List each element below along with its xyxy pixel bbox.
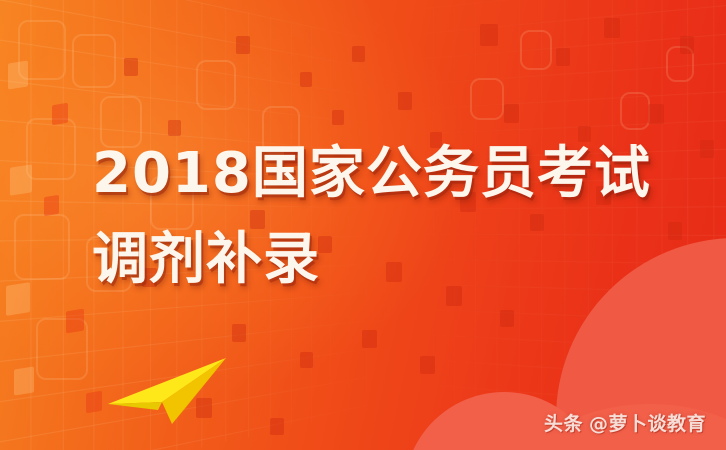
pattern-fleck [700, 140, 714, 158]
watermark-handle: @萝卜谈教育 [589, 409, 706, 436]
ghost-card [26, 118, 76, 180]
pattern-fleck [124, 58, 138, 76]
headline-line-2: 调剂补录 [92, 232, 651, 288]
pattern-fleck [362, 330, 377, 348]
pattern-fleck [680, 36, 694, 54]
pattern-fleck [332, 110, 344, 125]
yellow-paper-plane-icon [100, 358, 226, 424]
pattern-fleck [236, 36, 250, 54]
pattern-fleck [604, 18, 620, 38]
pattern-fleck [556, 48, 570, 66]
pattern-fleck [52, 103, 68, 126]
pattern-fleck [6, 282, 30, 316]
pattern-fleck [648, 104, 664, 124]
ghost-card [470, 78, 504, 120]
pattern-fleck [168, 120, 181, 136]
ghost-card [520, 30, 552, 70]
pattern-fleck [300, 352, 313, 368]
pattern-fleck [14, 366, 34, 395]
pattern-fleck [504, 104, 519, 123]
pattern-fleck [300, 72, 312, 87]
pattern-fleck [446, 286, 462, 306]
pattern-fleck [420, 356, 435, 374]
pattern-fleck [352, 46, 365, 62]
ghost-card [14, 214, 70, 280]
promo-banner: 2018国家公务员考试 调剂补录 头条 @萝卜谈教育 [0, 0, 726, 450]
watermark: 头条 @萝卜谈教育 [544, 409, 706, 436]
watermark-brand: 头条 [544, 409, 583, 436]
ghost-card [36, 318, 88, 380]
pattern-fleck [578, 126, 591, 142]
ghost-card [72, 34, 116, 88]
pattern-fleck [500, 310, 514, 327]
headline-line-1: 2018国家公务员考试 [92, 146, 651, 202]
pattern-fleck [8, 60, 28, 89]
headline-block: 2018国家公务员考试 调剂补录 [92, 146, 651, 288]
pattern-fleck [66, 309, 84, 334]
pattern-fleck [480, 24, 498, 46]
ghost-card [196, 60, 236, 110]
pattern-fleck [44, 195, 59, 216]
ghost-card [666, 46, 694, 82]
pattern-fleck [668, 222, 682, 240]
ghost-card [620, 92, 650, 130]
ghost-card [18, 20, 66, 80]
pattern-fleck [270, 418, 284, 435]
pattern-fleck [232, 324, 246, 342]
pattern-fleck [398, 92, 412, 110]
pattern-fleck [10, 164, 32, 195]
